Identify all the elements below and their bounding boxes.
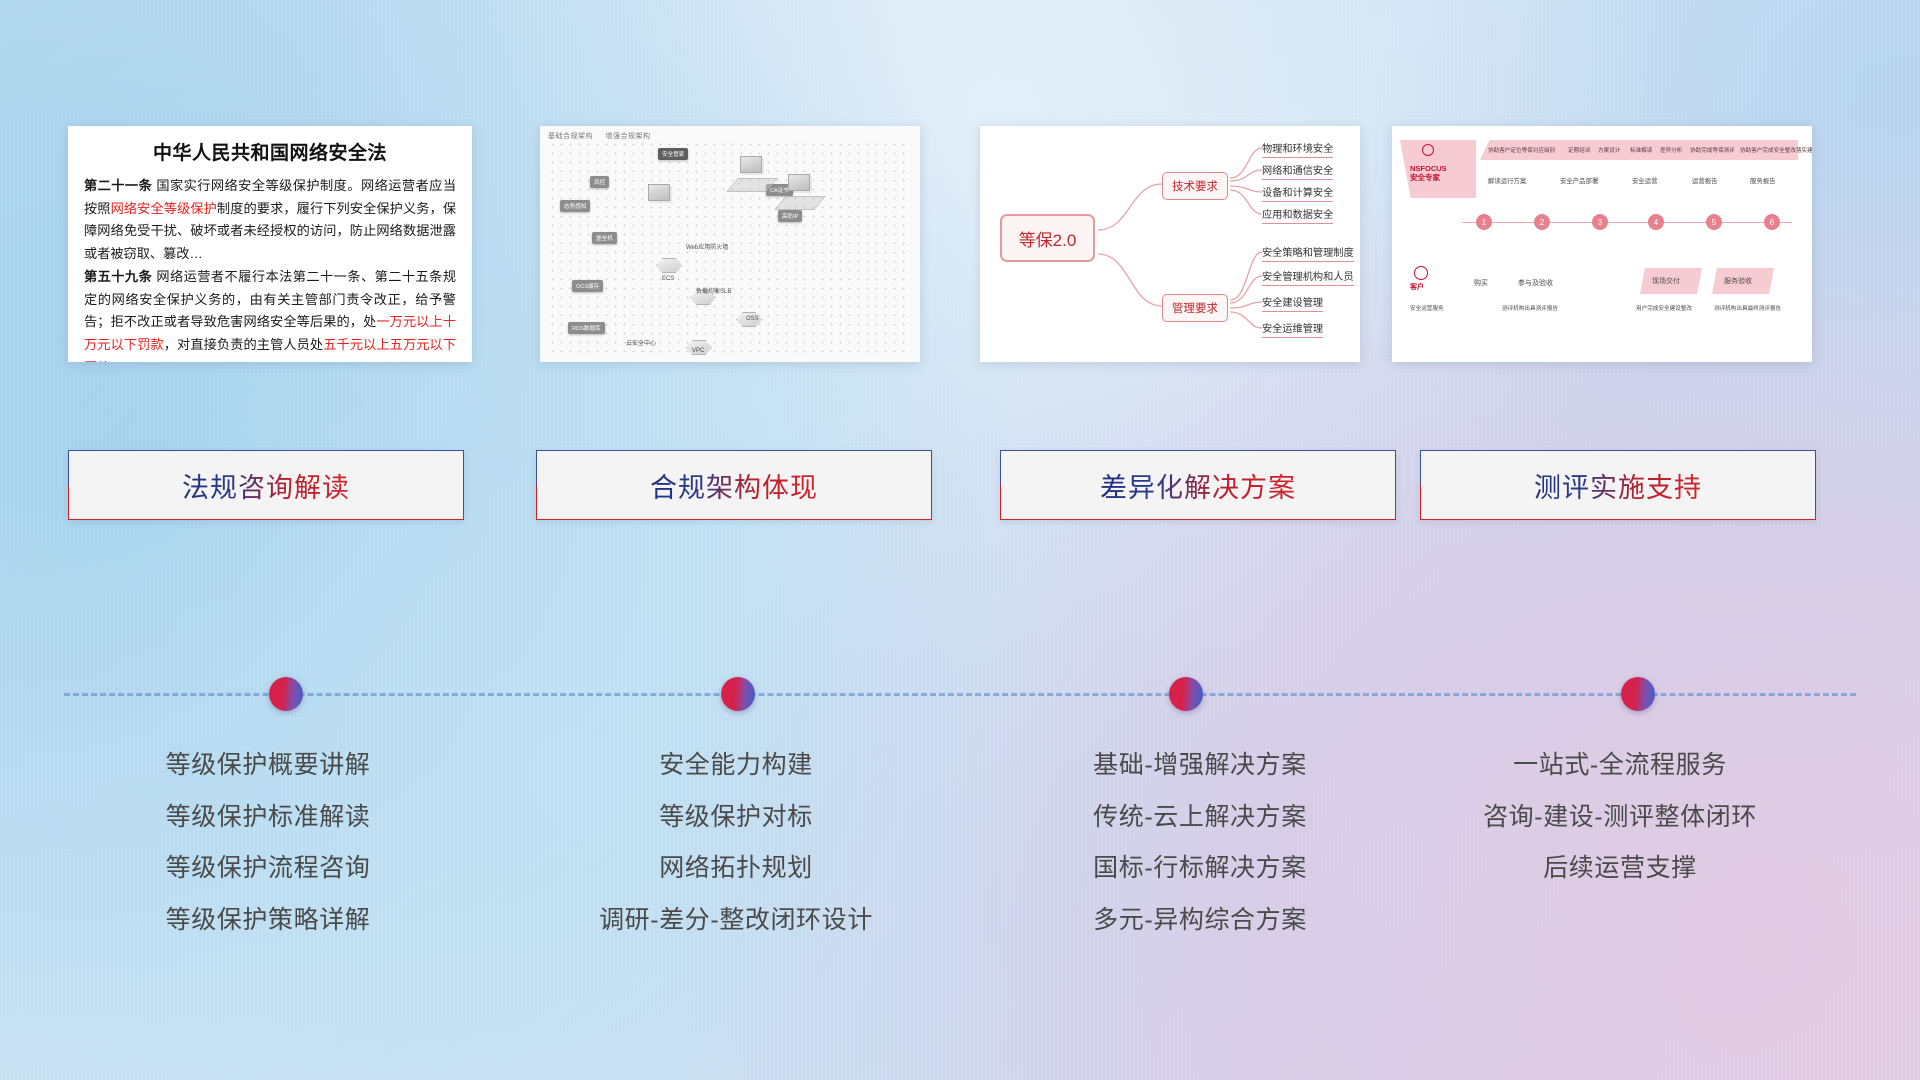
law-article-21: 第二十一条 国家实行网络安全等级保护制度。网络运营者应当按照网络安全等级保护制度… — [84, 175, 456, 266]
pillar-list-1: 等级保护概要讲解 等级保护标准解读 等级保护流程咨询 等级保护策略详解 — [68, 740, 468, 946]
list-item: 国标-行标解决方案 — [1000, 843, 1400, 895]
customer-icon — [1414, 266, 1428, 280]
person-icon — [1422, 144, 1434, 156]
law-article-59: 第五十九条 网络运营者不履行本法第二十一条、第二十五条规定的网络安全保护义务的，… — [84, 266, 456, 362]
nsfocus-logo-line1: NSFOCUS — [1410, 164, 1447, 173]
mindmap-leaf-device-compute: 设备和计算安全 — [1262, 184, 1333, 202]
tab-enhanced-architecture: 增强合规架构 — [605, 133, 650, 140]
arch-label-cloud-security-center: 云安全中心 — [626, 338, 656, 347]
nsfocus-chip-0: 协助客户定位等保对应级别 — [1488, 146, 1555, 154]
mindmap-root-node: 等保2.0 — [1000, 214, 1095, 262]
article-59-text-2: ，对直接负责的主管人员处 — [164, 337, 323, 352]
arch-node-risk-control: 风控 — [590, 176, 609, 188]
nsfocus-chip-5: 协助完成等保测评 — [1690, 146, 1735, 154]
pillar-list-4: 一站式-全流程服务 咨询-建设-测评整体闭环 后续运营支撑 — [1420, 740, 1820, 895]
nsfocus-customer-label: 客户 — [1410, 284, 1424, 293]
article-59-label: 第五十九条 — [84, 269, 152, 284]
nsfocus-step-4: 4 — [1648, 214, 1664, 230]
nsfocus-axis — [1462, 222, 1792, 223]
tab-basic-architecture: 基础合规架构 — [548, 133, 593, 140]
mindmap-leaf-policy-system: 安全策略和管理制度 — [1262, 244, 1354, 262]
list-item: 咨询-建设-测评整体闭环 — [1420, 792, 1820, 844]
card-compliance-architecture[interactable]: 基础合规架构 增强合规架构 安全管家 风控 态势感知 堡垒机 CA证书 高防IP… — [540, 126, 920, 362]
arch-label-vpc: VPC — [692, 348, 704, 354]
timeline-dot-3[interactable] — [1169, 677, 1203, 711]
nsfocus-chip-4: 差异分析 — [1660, 146, 1682, 154]
nsfocus-note-0: 安全运营服务 — [1410, 304, 1444, 312]
nsfocus-chip-1: 定期培训 — [1568, 146, 1590, 154]
nsfocus-stage-0: 解读运行方案 — [1488, 176, 1526, 185]
arch-node-security-steward: 安全管家 — [658, 148, 688, 160]
nsfocus-step-3: 3 — [1592, 214, 1608, 230]
nsfocus-logo: NSFOCUS 安全专家 — [1410, 164, 1447, 183]
law-card-body: 中华人民共和国网络安全法 第二十一条 国家实行网络安全等级保护制度。网络运营者应… — [68, 126, 472, 362]
list-item: 等级保护对标 — [536, 792, 936, 844]
mindmap-leaf-app-data: 应用和数据安全 — [1262, 206, 1333, 224]
card-cybersecurity-law[interactable]: 中华人民共和国网络安全法 第二十一条 国家实行网络安全等级保护制度。网络运营者应… — [68, 126, 472, 362]
architecture-header-tabs: 基础合规架构 增强合规架构 — [548, 131, 660, 141]
mindmap-branch-management: 管理要求 — [1162, 294, 1228, 322]
nsfocus-bottom-label-0: 购买 — [1474, 278, 1488, 288]
list-item: 等级保护策略详解 — [68, 895, 468, 947]
mindmap-leaf-construction-mgmt: 安全建设管理 — [1262, 294, 1323, 312]
pillar-detail-lists: 等级保护概要讲解 等级保护标准解读 等级保护流程咨询 等级保护策略详解 安全能力… — [0, 740, 1920, 1040]
arch-label-slb: 负载均衡SLB — [696, 286, 731, 295]
article-21-highlight: 网络安全等级保护 — [111, 201, 217, 216]
thumbnail-cards-row: 中华人民共和国网络安全法 第二十一条 国家实行网络安全等级保护制度。网络运营者应… — [0, 126, 1920, 362]
timeline-dashed-line — [64, 693, 1856, 696]
nsfocus-bottom-label-1: 参与及验收 — [1518, 278, 1553, 288]
nsfocus-step-1: 1 — [1476, 214, 1492, 230]
pillar-buttons-row: 法规咨询解读 合规架构体现 差异化解决方案 测评实施支持 — [0, 450, 1920, 520]
mindmap-leaf-org-personnel: 安全管理机构和人员 — [1262, 268, 1354, 286]
timeline-dot-1[interactable] — [269, 677, 303, 711]
nsfocus-bottom-label-2: 现场交付 — [1652, 276, 1680, 286]
nsfocus-logo-line2: 安全专家 — [1410, 173, 1440, 182]
nsfocus-bottom-label-3: 服务验收 — [1724, 276, 1752, 286]
mindmap-leaf-ops-mgmt: 安全运维管理 — [1262, 320, 1323, 338]
pillar-button-label-4: 测评实施支持 — [1534, 466, 1702, 505]
pillar-button-compliance-architecture[interactable]: 合规架构体现 — [536, 450, 932, 520]
pillar-button-assessment-support[interactable]: 测评实施支持 — [1420, 450, 1816, 520]
list-item: 基础-增强解决方案 — [1000, 740, 1400, 792]
nsfocus-note-1: 测评机构出具测评报告 — [1502, 304, 1558, 312]
pillar-button-regulation-consulting[interactable]: 法规咨询解读 — [68, 450, 464, 520]
nsfocus-stage-2: 安全运营 — [1632, 176, 1658, 185]
nsfocus-stage-1: 安全产品部署 — [1560, 176, 1598, 185]
arch-node-situation-awareness: 态势感知 — [560, 200, 590, 212]
nsfocus-step-6: 6 — [1764, 214, 1780, 230]
arch-label-ecs: ECS — [662, 276, 674, 282]
pillar-button-label-3: 差异化解决方案 — [1100, 466, 1296, 505]
list-item: 传统-云上解决方案 — [1000, 792, 1400, 844]
nsfocus-stage-4: 服务报告 — [1750, 176, 1776, 185]
card-mlps-mindmap[interactable]: 等保2.0 技术要求 管理要求 物理和环境安全 网络和通信安全 设备和计算安全 … — [980, 126, 1360, 362]
list-item: 等级保护概要讲解 — [68, 740, 468, 792]
arch-label-oss: OSS — [746, 316, 759, 322]
arch-node-ocs-cache: OCS缓存 — [572, 280, 603, 292]
timeline — [64, 693, 1856, 696]
law-title: 中华人民共和国网络安全法 — [84, 138, 456, 165]
arch-node-rds: RDS数据库 — [568, 322, 605, 334]
pillar-list-3: 基础-增强解决方案 传统-云上解决方案 国标-行标解决方案 多元-异构综合方案 — [1000, 740, 1400, 946]
architecture-diagram: 基础合规架构 增强合规架构 安全管家 风控 态势感知 堡垒机 CA证书 高防IP… — [540, 126, 920, 362]
arch-icon-server-a — [740, 156, 762, 173]
nsfocus-chip-6: 协助客户完成安全整改落实建设 — [1740, 146, 1812, 154]
pillar-button-label-2: 合规架构体现 — [650, 466, 818, 505]
mindmap-leaf-physical-env: 物理和环境安全 — [1262, 140, 1333, 158]
article-21-label: 第二十一条 — [84, 178, 152, 193]
arch-icon-server-b — [788, 174, 810, 191]
pillar-button-differentiated-solution[interactable]: 差异化解决方案 — [1000, 450, 1396, 520]
list-item: 一站式-全流程服务 — [1420, 740, 1820, 792]
nsfocus-stage-3: 运营报告 — [1692, 176, 1718, 185]
arch-label-waf: Web应用防火墙 — [686, 242, 728, 251]
nsfocus-note-2: 用户完成安全建设整改 — [1636, 304, 1692, 312]
nsfocus-timeline-diagram: NSFOCUS 安全专家 协助客户定位等保对应级别 定期培训 方案设计 标准解读… — [1392, 126, 1812, 362]
list-item: 多元-异构综合方案 — [1000, 895, 1400, 947]
nsfocus-step-5: 5 — [1706, 214, 1722, 230]
nsfocus-chip-3: 标准解读 — [1630, 146, 1652, 154]
list-item: 调研-差分-整改闭环设计 — [536, 895, 936, 947]
nsfocus-step-2: 2 — [1534, 214, 1550, 230]
list-item: 等级保护流程咨询 — [68, 843, 468, 895]
timeline-dot-2[interactable] — [721, 677, 755, 711]
list-item: 等级保护标准解读 — [68, 792, 468, 844]
mindmap-leaf-network-comm: 网络和通信安全 — [1262, 162, 1333, 180]
arch-node-anti-ddos: 高防IP — [778, 210, 802, 222]
arch-icon-server-c — [648, 184, 670, 201]
arch-node-bastion-host: 堡垒机 — [592, 232, 617, 244]
list-item: 安全能力构建 — [536, 740, 936, 792]
list-item: 网络拓扑规划 — [536, 843, 936, 895]
mindmap-branch-technical: 技术要求 — [1162, 172, 1228, 200]
nsfocus-note-3: 测评机构出具最终测评报告 — [1714, 304, 1781, 312]
list-item: 后续运营支撑 — [1420, 843, 1820, 895]
mindmap-diagram: 等保2.0 技术要求 管理要求 物理和环境安全 网络和通信安全 设备和计算安全 … — [980, 126, 1360, 362]
timeline-dot-4[interactable] — [1621, 677, 1655, 711]
card-nsfocus-process[interactable]: NSFOCUS 安全专家 协助客户定位等保对应级别 定期培训 方案设计 标准解读… — [1392, 126, 1812, 362]
nsfocus-chip-2: 方案设计 — [1598, 146, 1620, 154]
pillar-list-2: 安全能力构建 等级保护对标 网络拓扑规划 调研-差分-整改闭环设计 — [536, 740, 936, 946]
pillar-button-label-1: 法规咨询解读 — [182, 466, 350, 505]
